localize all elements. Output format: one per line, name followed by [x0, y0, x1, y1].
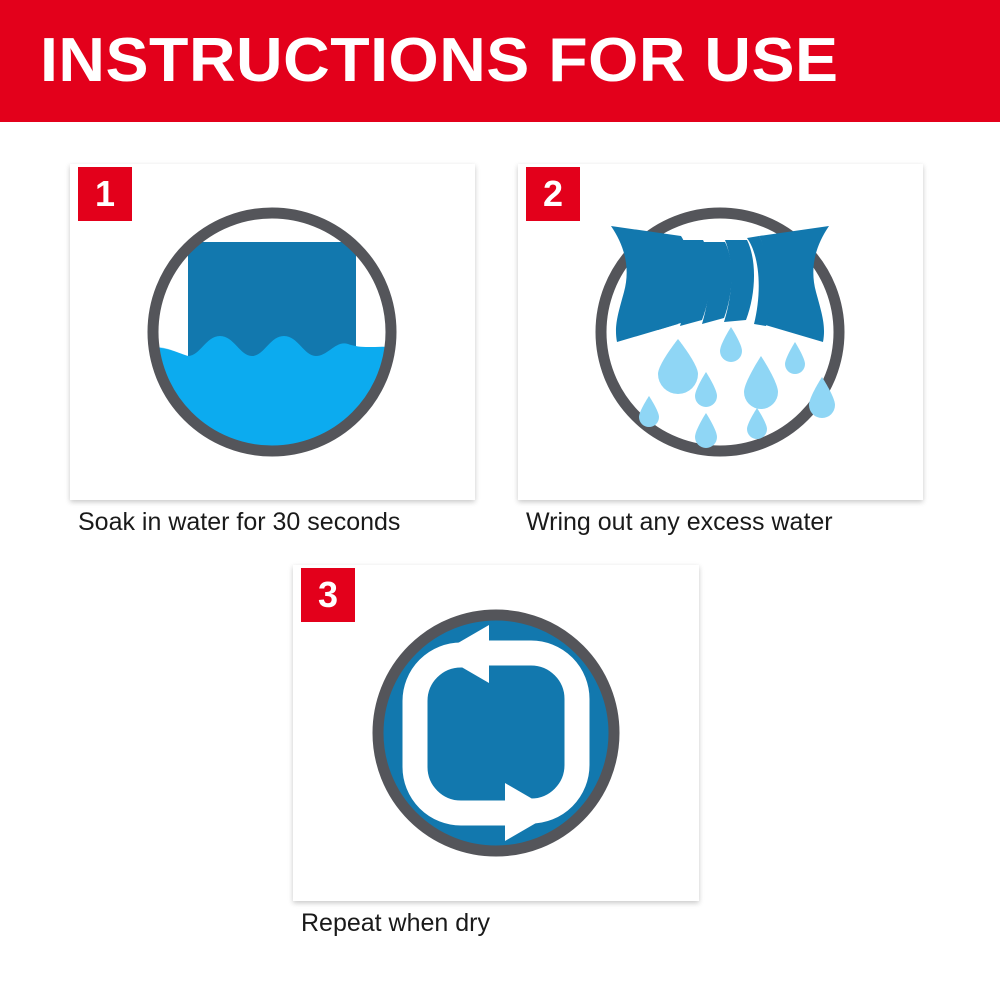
step-number-badge-3: 3: [301, 568, 355, 622]
header-banner: INSTRUCTIONS FOR USE: [0, 0, 1000, 122]
step-caption-2: Wring out any excess water: [526, 508, 833, 537]
step-caption-3: Repeat when dry: [301, 909, 490, 938]
step-number-badge-1: 1: [78, 167, 132, 221]
twisted-cloth: [611, 226, 829, 342]
step-panel-2: 2: [518, 164, 923, 500]
page-title: INSTRUCTIONS FOR USE: [40, 30, 839, 92]
water-droplets: [639, 327, 835, 448]
step-panel-1: 1: [70, 164, 475, 500]
step-panel-3: 3: [293, 565, 699, 901]
step-number-badge-2: 2: [526, 167, 580, 221]
step-caption-1: Soak in water for 30 seconds: [78, 508, 400, 537]
water-under-strip: [188, 455, 356, 477]
instructions-for-use-graphic: INSTRUCTIONS FOR USE 1 S: [0, 0, 1000, 1000]
